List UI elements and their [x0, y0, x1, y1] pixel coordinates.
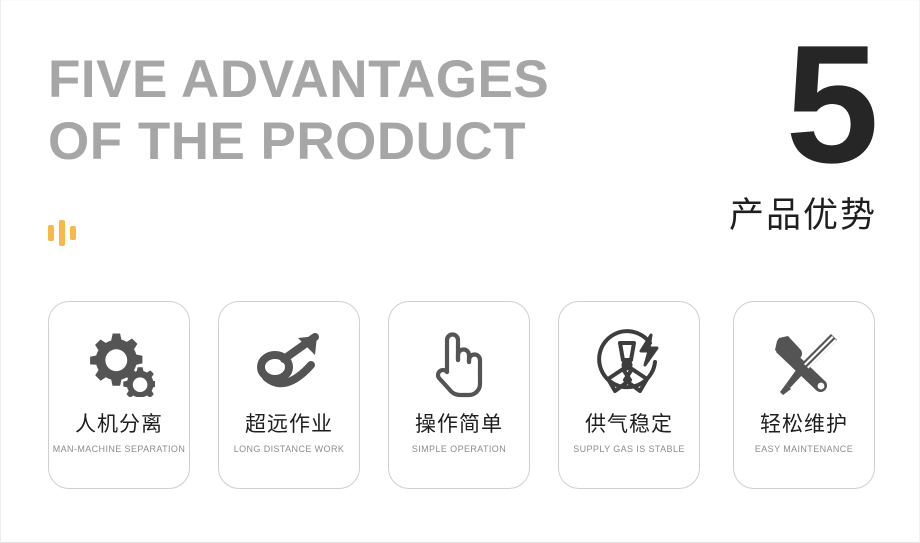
advantage-card[interactable]: 轻松维护 EASY MAINTENANCE [733, 301, 875, 489]
page-title: FIVE ADVANTAGES OF THE PRODUCT [48, 49, 688, 173]
advantage-title-cn: 人机分离 [75, 412, 163, 438]
fan-lightning-icon [585, 324, 673, 402]
advantage-card[interactable]: 供气稳定 SUPPLY GAS IS STABLE [558, 301, 700, 489]
advantage-count-number: 5 [729, 29, 877, 179]
advantage-count-block: 5 产品优势 [729, 29, 877, 237]
gears-icon [75, 324, 163, 402]
advantage-card[interactable]: 人机分离 MAN-MACHINE SEPARATION [48, 301, 190, 489]
advantage-title-en: LONG DISTANCE WORK [234, 443, 345, 456]
advantage-card[interactable]: 超远作业 LONG DISTANCE WORK [218, 301, 360, 489]
advantage-title-en: MAN-MACHINE SEPARATION [53, 443, 185, 456]
accent-bar-2 [59, 220, 65, 246]
advantage-title-en: EASY MAINTENANCE [755, 443, 853, 456]
headline-line-1: FIVE ADVANTAGES [48, 49, 688, 111]
arrow-through-loop-icon [245, 324, 333, 402]
advantage-title-cn: 轻松维护 [760, 412, 848, 438]
advantage-title-cn: 超远作业 [245, 412, 333, 438]
slide-canvas: FIVE ADVANTAGES OF THE PRODUCT 5 产品优势 人机… [0, 0, 920, 543]
pointing-hand-icon [415, 324, 503, 402]
advantage-title-en: SIMPLE OPERATION [412, 443, 506, 456]
advantage-title-en: SUPPLY GAS IS STABLE [573, 443, 685, 456]
wrench-screwdriver-icon [760, 324, 848, 402]
headline-line-2: OF THE PRODUCT [48, 111, 688, 173]
advantage-title-cn: 供气稳定 [585, 412, 673, 438]
advantage-card: 操作简单 SIMPLE OPERATION [388, 301, 530, 489]
accent-bar-3 [70, 226, 76, 240]
accent-bar-1 [48, 225, 54, 241]
advantage-count-label: 产品优势 [729, 195, 877, 237]
equalizer-bars-icon [48, 213, 88, 253]
advantage-card-list: 人机分离 MAN-MACHINE SEPARATION 超远作业 LONG DI… [48, 301, 878, 489]
advantage-title-cn: 操作简单 [415, 412, 503, 438]
